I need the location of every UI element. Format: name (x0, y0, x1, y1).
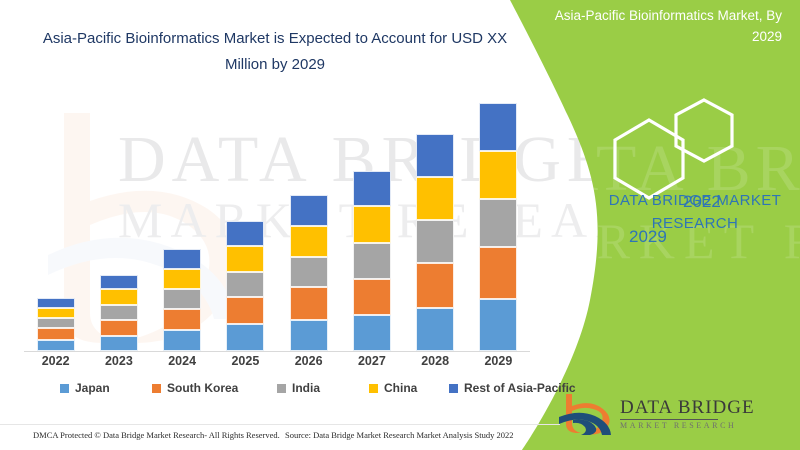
legend-swatch-icon (152, 384, 161, 393)
legend-swatch-icon (369, 384, 378, 393)
legend-swatch-icon (277, 384, 286, 393)
footer-dmca: DMCA Protected © Data Bridge Market Rese… (33, 430, 280, 440)
legend-label: Japan (75, 381, 110, 395)
legend-label: India (292, 381, 320, 395)
bar-segment-china-2026[interactable] (290, 226, 328, 257)
x-axis-labels: 20222023202420252026202720282029 (24, 354, 530, 374)
bar-segment-south-korea-2028[interactable] (416, 263, 454, 307)
bar-segment-rest-of-asia-pacific-2027[interactable] (353, 171, 391, 207)
footer-divider (0, 424, 560, 425)
page-title: Asia-Pacific Bioinformatics Market is Ex… (40, 26, 510, 77)
x-axis-label-2026: 2026 (279, 354, 339, 368)
x-axis-label-2027: 2027 (342, 354, 402, 368)
legend-item-china[interactable]: China (369, 381, 417, 395)
bar-segment-south-korea-2022[interactable] (37, 328, 75, 340)
panel-brand: DATA BRIDGE MARKET RESEARCH (590, 190, 800, 235)
bar-segment-japan-2025[interactable] (226, 324, 264, 351)
bar-segment-china-2029[interactable] (479, 151, 517, 199)
data-bridge-logo-icon (557, 392, 617, 438)
bar-2028[interactable] (416, 134, 454, 351)
chart-plot-area (24, 96, 530, 352)
legend-label: South Korea (167, 381, 238, 395)
bar-segment-japan-2028[interactable] (416, 308, 454, 351)
x-axis-label-2025: 2025 (215, 354, 275, 368)
legend-item-south-korea[interactable]: South Korea (152, 381, 238, 395)
bar-segment-japan-2022[interactable] (37, 340, 75, 351)
bar-2023[interactable] (100, 275, 138, 351)
logo-underline (620, 419, 718, 420)
x-axis-label-2028: 2028 (405, 354, 465, 368)
bar-segment-china-2028[interactable] (416, 177, 454, 220)
bar-segment-india-2024[interactable] (163, 289, 201, 308)
bar-segment-india-2027[interactable] (353, 243, 391, 279)
bar-segment-japan-2029[interactable] (479, 299, 517, 351)
footer-source: Source: Data Bridge Market Research Mark… (285, 430, 514, 440)
bar-segment-india-2022[interactable] (37, 318, 75, 329)
bar-2027[interactable] (353, 171, 391, 351)
legend-swatch-icon (449, 384, 458, 393)
x-axis-label-2029: 2029 (468, 354, 528, 368)
panel-brand-line-1: DATA BRIDGE MARKET (590, 190, 800, 213)
bar-segment-rest-of-asia-pacific-2025[interactable] (226, 221, 264, 246)
legend-swatch-icon (60, 384, 69, 393)
bar-segment-rest-of-asia-pacific-2026[interactable] (290, 195, 328, 225)
bar-segment-south-korea-2026[interactable] (290, 287, 328, 319)
bar-segment-south-korea-2029[interactable] (479, 247, 517, 299)
bar-segment-south-korea-2023[interactable] (100, 320, 138, 336)
legend-item-japan[interactable]: Japan (60, 381, 110, 395)
bar-segment-india-2026[interactable] (290, 257, 328, 287)
bar-segment-india-2023[interactable] (100, 305, 138, 320)
bar-segment-india-2025[interactable] (226, 272, 264, 297)
x-axis-label-2023: 2023 (89, 354, 149, 368)
bar-segment-rest-of-asia-pacific-2023[interactable] (100, 275, 138, 289)
bar-segment-rest-of-asia-pacific-2024[interactable] (163, 249, 201, 268)
logo-text-line-2: MARKET RESEARCH (620, 421, 755, 430)
stacked-bar-chart (24, 96, 530, 352)
bar-segment-india-2029[interactable] (479, 199, 517, 248)
bar-segment-rest-of-asia-pacific-2022[interactable] (37, 298, 75, 308)
bar-segment-south-korea-2025[interactable] (226, 297, 264, 324)
bar-segment-china-2023[interactable] (100, 289, 138, 304)
legend-label: China (384, 381, 417, 395)
bar-segment-japan-2026[interactable] (290, 320, 328, 351)
bar-segment-china-2025[interactable] (226, 246, 264, 272)
panel-brand-line-2: RESEARCH (590, 213, 800, 236)
bar-segment-china-2027[interactable] (353, 206, 391, 243)
bar-segment-rest-of-asia-pacific-2029[interactable] (479, 103, 517, 152)
chart-legend: JapanSouth KoreaIndiaChinaRest of Asia-P… (24, 381, 530, 401)
x-axis-line (24, 351, 530, 352)
bar-segment-china-2024[interactable] (163, 269, 201, 290)
bar-segment-china-2022[interactable] (37, 308, 75, 318)
bar-segment-south-korea-2027[interactable] (353, 279, 391, 316)
bar-segment-japan-2024[interactable] (163, 330, 201, 351)
bar-segment-india-2028[interactable] (416, 220, 454, 263)
logo-text-line-1: DATA BRIDGE (620, 398, 755, 417)
bar-2022[interactable] (37, 298, 75, 351)
infographic-root: DATA BRIDGE MARKET RESEARCH DATA BRIDGE … (0, 0, 800, 450)
logo-text: DATA BRIDGE MARKET RESEARCH (620, 398, 755, 430)
panel-title: Asia-Pacific Bioinformatics Market, By 2… (542, 6, 782, 48)
x-axis-label-2022: 2022 (26, 354, 86, 368)
bar-2024[interactable] (163, 249, 201, 351)
bar-2025[interactable] (226, 221, 264, 351)
bar-2029[interactable] (479, 103, 517, 351)
bar-segment-japan-2027[interactable] (353, 315, 391, 351)
bar-segment-rest-of-asia-pacific-2028[interactable] (416, 134, 454, 177)
bar-segment-south-korea-2024[interactable] (163, 309, 201, 331)
legend-item-india[interactable]: India (277, 381, 320, 395)
bar-2026[interactable] (290, 195, 328, 351)
x-axis-label-2024: 2024 (152, 354, 212, 368)
bar-segment-japan-2023[interactable] (100, 336, 138, 351)
